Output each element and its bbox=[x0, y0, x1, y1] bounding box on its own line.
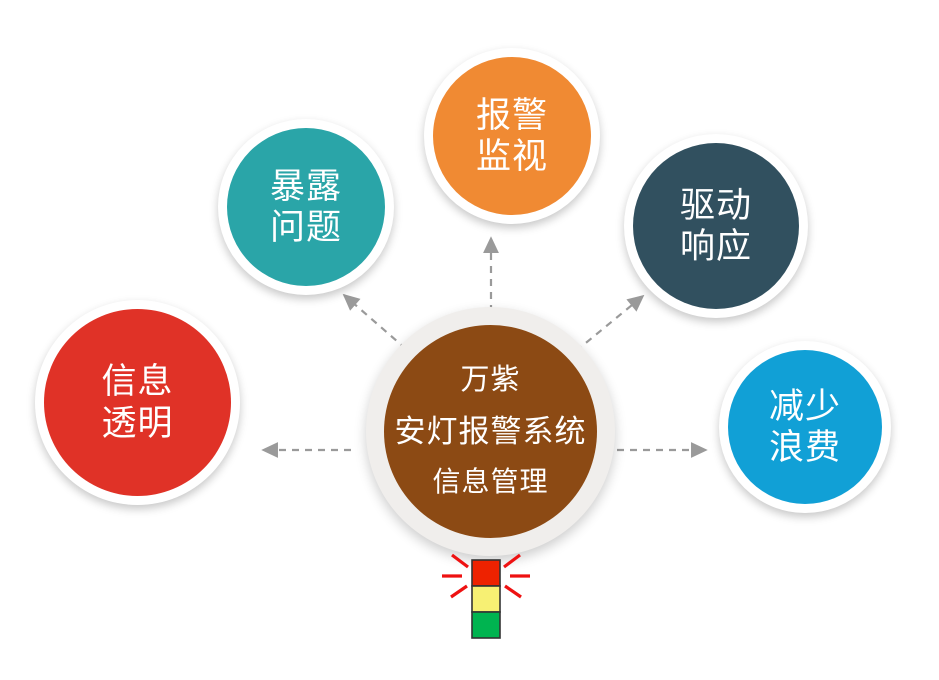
node-reduce-waste[interactable]: 减少 浪费 bbox=[719, 341, 891, 513]
node-center-line3: 信息管理 bbox=[432, 467, 548, 498]
node-info-transparent-line1: 信息 bbox=[101, 361, 173, 402]
node-center-line2: 安灯报警系统 bbox=[395, 415, 587, 449]
node-alarm-monitor-line2: 监视 bbox=[476, 136, 548, 177]
node-center-disc: 万紫 安灯报警系统 信息管理 bbox=[384, 325, 597, 538]
diagram-canvas: 报警 监视 暴露 问题 驱动 响应 信息 透明 减少 浪费 万紫 安 bbox=[0, 0, 939, 680]
node-alarm-monitor-line1: 报警 bbox=[476, 95, 548, 136]
node-expose-issue-line1: 暴露 bbox=[270, 166, 342, 207]
node-alarm-monitor[interactable]: 报警 监视 bbox=[424, 48, 600, 224]
andon-yellow-lamp bbox=[472, 586, 500, 612]
node-drive-response-disc: 驱动 响应 bbox=[633, 143, 799, 309]
node-expose-issue-line2: 问题 bbox=[270, 207, 342, 248]
node-center-line1: 万紫 bbox=[460, 365, 520, 397]
andon-stack-light-icon bbox=[432, 543, 540, 647]
andon-flash-rays-left bbox=[442, 555, 468, 597]
node-info-transparent[interactable]: 信息 透明 bbox=[35, 300, 240, 505]
node-info-transparent-disc: 信息 透明 bbox=[44, 309, 231, 496]
node-expose-issue[interactable]: 暴露 问题 bbox=[218, 119, 394, 295]
andon-flash-rays-right bbox=[504, 555, 530, 597]
node-reduce-waste-disc: 减少 浪费 bbox=[728, 350, 882, 504]
andon-red-lamp bbox=[472, 560, 500, 586]
node-reduce-waste-line2: 浪费 bbox=[769, 427, 841, 468]
node-center[interactable]: 万紫 安灯报警系统 信息管理 bbox=[366, 307, 615, 556]
node-expose-issue-disc: 暴露 问题 bbox=[227, 128, 385, 286]
connector-upright-to-drive-response bbox=[576, 296, 643, 351]
node-drive-response-line2: 响应 bbox=[680, 226, 752, 267]
andon-green-lamp bbox=[472, 612, 500, 638]
node-drive-response[interactable]: 驱动 响应 bbox=[624, 134, 808, 318]
node-info-transparent-line2: 透明 bbox=[101, 403, 173, 444]
node-drive-response-line1: 驱动 bbox=[680, 185, 752, 226]
connector-upleft-to-expose-issue bbox=[344, 295, 406, 349]
node-reduce-waste-line1: 减少 bbox=[769, 386, 841, 427]
node-alarm-monitor-disc: 报警 监视 bbox=[433, 57, 591, 215]
